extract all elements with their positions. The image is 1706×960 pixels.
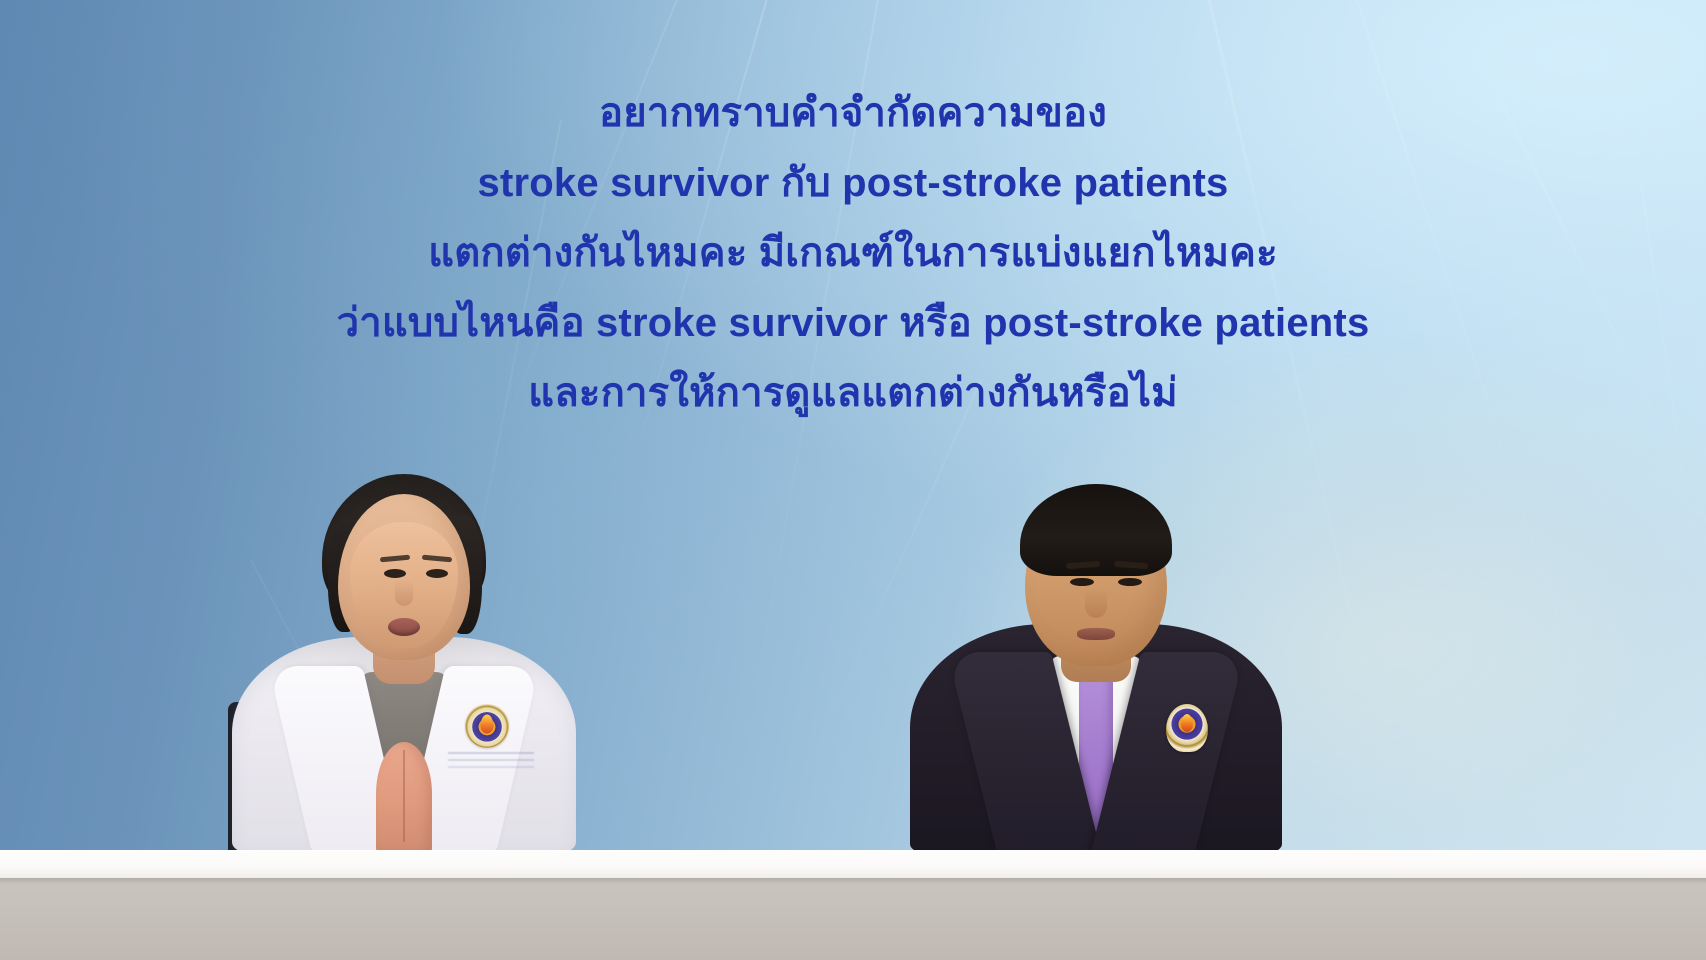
caption-line-3: แตกต่างกันไหมคะ มีเกณฑ์ในการแบ่งแยกไหมคะ bbox=[0, 218, 1706, 288]
royal-emblem-pin-icon bbox=[1166, 704, 1208, 752]
eye-left bbox=[1070, 578, 1094, 586]
eye-left bbox=[384, 569, 406, 578]
caption-line-5: และการให้การดูแลแตกต่างกันหรือไม่ bbox=[0, 358, 1706, 428]
subtitle-caption-block: อยากทราบคำจำกัดความของ stroke survivor ก… bbox=[0, 78, 1706, 428]
eye-right bbox=[426, 569, 448, 578]
desk-edge-shadow bbox=[0, 878, 1706, 884]
praying-hands-wai bbox=[376, 742, 432, 854]
eye-right bbox=[1118, 578, 1142, 586]
coat-embroidered-name-text bbox=[448, 752, 534, 774]
mouth bbox=[1077, 628, 1115, 640]
desk-surface bbox=[0, 878, 1706, 960]
nose bbox=[1085, 588, 1107, 618]
caption-line-2: stroke survivor กับ post-stroke patients bbox=[0, 148, 1706, 218]
caption-line-4: ว่าแบบไหนคือ stroke survivor หรือ post-s… bbox=[0, 288, 1706, 358]
royal-emblem-badge-icon bbox=[465, 704, 509, 748]
desk-front-edge bbox=[0, 850, 1706, 878]
speaker-left-female-physician bbox=[232, 452, 576, 852]
nose bbox=[395, 580, 413, 606]
slide-stage: อยากทราบคำจำกัดความของ stroke survivor ก… bbox=[0, 0, 1706, 960]
caption-line-1: อยากทราบคำจำกัดความของ bbox=[0, 78, 1706, 148]
speaker-right-male bbox=[910, 442, 1282, 852]
mouth bbox=[388, 618, 420, 636]
